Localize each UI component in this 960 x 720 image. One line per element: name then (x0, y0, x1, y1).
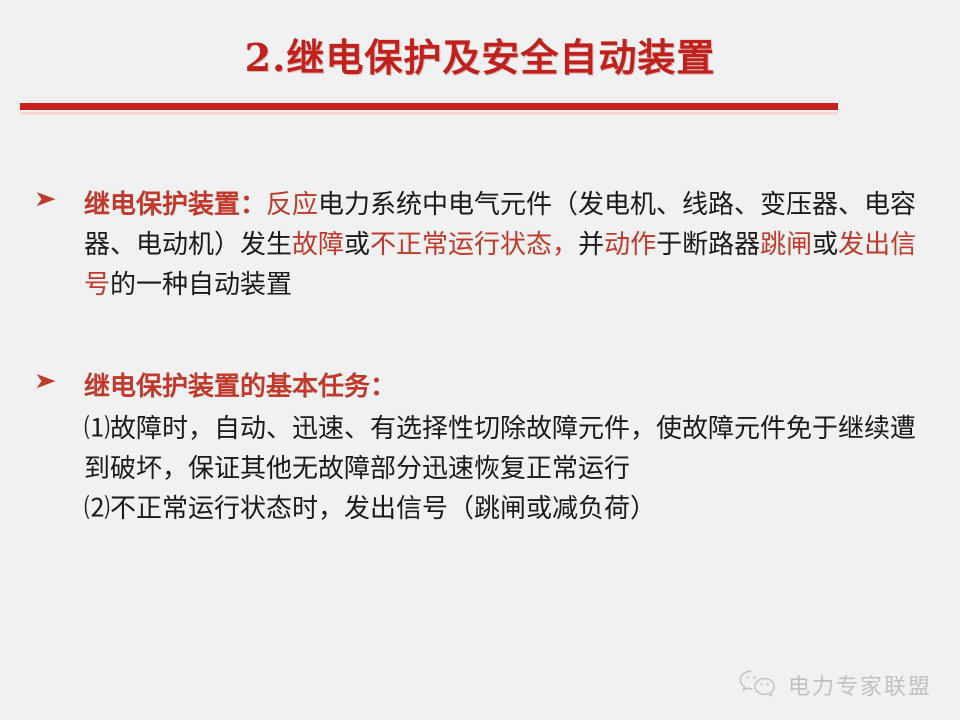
definition-seg-tail: 的一种自动装置 (110, 270, 292, 300)
arrow-bullet-icon: ➤ (34, 371, 57, 393)
definition-seg-and: 并 (578, 230, 604, 260)
title-underline-rule-soft (20, 112, 838, 115)
slide-body: ➤ 继电保护装置：反应电力系统中电气元件（发电机、线路、变压器、电容器、电动机）… (0, 185, 960, 529)
definition-seg-or1: 或 (344, 230, 370, 260)
list-item: ⑴故障时，自动、迅速、有选择性切除故障元件，使故障元件免于继续遭到破坏，保证其他… (84, 409, 940, 489)
title-block: 2.继电保护及安全自动装置 (0, 36, 960, 80)
arrow-bullet-icon: ➤ (34, 189, 57, 211)
definition-seg-fault: 故障 (292, 230, 344, 260)
tasks-heading-text: 继电保护装置的基本任务： (84, 372, 396, 402)
definition-term: 继电保护装置： (84, 190, 266, 220)
watermark: 电力专家联盟 (738, 668, 932, 702)
tasks-list: ⑴故障时，自动、迅速、有选择性切除故障元件，使故障元件免于继续遭到破坏，保证其他… (84, 409, 940, 529)
bullet-item-definition: ➤ 继电保护装置：反应电力系统中电气元件（发电机、线路、变压器、电容器、电动机）… (0, 185, 960, 305)
definition-seg-trip: 跳闸 (760, 230, 812, 260)
definition-seg-reaction: 反应 (266, 190, 318, 220)
definition-paragraph: 继电保护装置：反应电力系统中电气元件（发电机、线路、变压器、电容器、电动机）发生… (84, 185, 940, 305)
definition-seg-breaker: 于断路器 (656, 230, 760, 260)
slide-canvas: 2.继电保护及安全自动装置 ➤ 继电保护装置：反应电力系统中电气元件（发电机、线… (0, 0, 960, 720)
wechat-icon (738, 668, 778, 702)
list-item: ⑵不正常运行状态时，发出信号（跳闸或减负荷） (84, 489, 940, 529)
tasks-heading: 继电保护装置的基本任务： (84, 367, 940, 407)
definition-seg-action: 动作 (604, 230, 656, 260)
definition-seg-abnormal: 不正常运行状态， (370, 230, 578, 260)
title-underline-rule (20, 103, 838, 110)
page-title: 2.继电保护及安全自动装置 (0, 36, 960, 80)
bullet-item-tasks: ➤ 继电保护装置的基本任务： ⑴故障时，自动、迅速、有选择性切除故障元件，使故障… (0, 367, 960, 529)
definition-seg-or2: 或 (812, 230, 838, 260)
watermark-text: 电力专家联盟 (788, 669, 932, 701)
